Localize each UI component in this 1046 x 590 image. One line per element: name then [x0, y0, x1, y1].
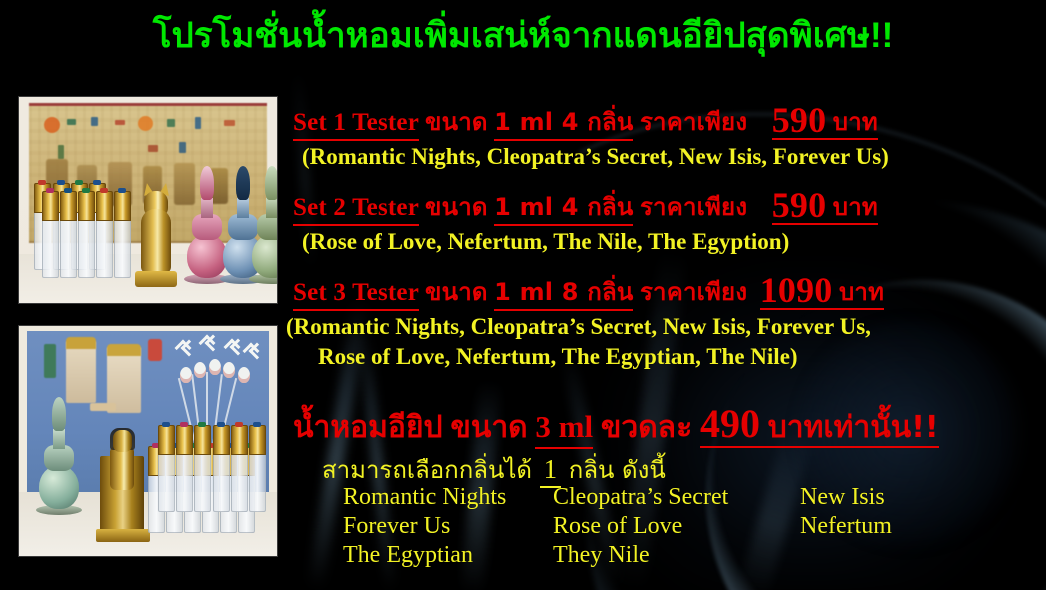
gold-cat-statue [133, 179, 179, 287]
offer-price: 490 [700, 401, 760, 446]
green-ornate-bottle [34, 395, 84, 515]
set-2-price: 590 [772, 185, 827, 225]
set-3-price-label: ราคาเพียง [640, 278, 747, 306]
set-2-scents: (Rose of Love, Nefertum, The Nile, The E… [302, 229, 789, 255]
set-2-title: Set 2 Tester [293, 194, 419, 226]
headline: โปรโมชั่นน้ำหอมเพิ่มเสน่ห์จากแดนอียิปสุด… [0, 8, 1046, 63]
dove-icon [177, 342, 193, 352]
scent-row: The Egyptian They Nile [343, 542, 1033, 571]
scent-row: Romantic Nights Cleopatra’s Secret New I… [343, 484, 1033, 513]
offer-size-value: 3 ml [535, 409, 593, 449]
set-2-size-label: ขนาด [425, 193, 488, 221]
choose-suffix: กลิ่น ดังนี้ [569, 456, 666, 484]
set-2-price-label: ราคาเพียง [640, 193, 747, 221]
scent-item: Nefertum [800, 513, 1000, 540]
scent-item: They Nile [553, 542, 800, 569]
set-1-price-label: ราคาเพียง [640, 108, 747, 136]
choose-prefix: สามารถเลือกกลิ่นได้ [322, 456, 532, 484]
scent-row: Forever Us Rose of Love Nefertum [343, 513, 1033, 542]
product-photo-bottles-and-cat [18, 96, 278, 304]
set-2-line: Set 2 Tester ขนาด 1 ml 4 กลิ่น ราคาเพียง… [293, 184, 878, 226]
gold-pharaoh-statue [94, 410, 152, 542]
set-1-title: Set 1 Tester [293, 109, 419, 141]
set-1-scents: (Romantic Nights, Cleopatra’s Secret, Ne… [302, 144, 889, 170]
set-3-line: Set 3 Tester ขนาด 1 ml 8 กลิ่น ราคาเพียง… [293, 269, 884, 311]
set-1-price: 590 [772, 100, 827, 140]
dove-icon [201, 337, 217, 347]
scent-item: New Isis [800, 484, 1000, 511]
set-3-scents-line-1: (Romantic Nights, Cleopatra’s Secret, Ne… [286, 314, 871, 340]
set-2-currency: บาท [833, 193, 878, 221]
offer-per-bottle-label: ขวดละ [601, 410, 692, 445]
set-3-price: 1090 [760, 270, 833, 310]
scent-item: Romantic Nights [343, 484, 553, 511]
set-2-size-value: 1 ml 4 กลิ่น [494, 193, 633, 226]
offer-size-label: ขนาด [450, 410, 527, 445]
scent-item: The Egyptian [343, 542, 553, 569]
set-1-currency: บาท [833, 108, 878, 136]
promotion-banner: โปรโมชั่นน้ำหอมเพิ่มเสน่ห์จากแดนอียิปสุด… [0, 0, 1046, 590]
set-3-title: Set 3 Tester [293, 279, 419, 311]
set-1-line: Set 1 Tester ขนาด 1 ml 4 กลิ่น ราคาเพียง… [293, 99, 878, 141]
set-3-currency: บาท [839, 278, 884, 306]
scent-item: Forever Us [343, 513, 553, 540]
offer-line: น้ำหอมอียิป ขนาด 3 ml ขวดละ 490 บาทเท่าน… [293, 400, 939, 451]
product-photo-vials-and-pharaoh [18, 325, 278, 557]
set-3-size-value: 1 ml 8 กลิ่น [494, 278, 633, 311]
dove-icon [226, 341, 242, 351]
green-perfume-bottle [246, 158, 278, 284]
set-3-size-label: ขนาด [425, 278, 488, 306]
scent-list: Romantic Nights Cleopatra’s Secret New I… [343, 484, 1033, 571]
scent-item: Rose of Love [553, 513, 800, 540]
scent-item: Cleopatra’s Secret [553, 484, 800, 511]
offer-product: น้ำหอมอียิป [293, 410, 443, 445]
dove-icon [245, 345, 261, 355]
set-1-size-value: 1 ml 4 กลิ่น [494, 108, 633, 141]
offer-currency-suffix: บาทเท่านั้น!! [768, 410, 939, 445]
set-3-scents-line-2: Rose of Love, Nefertum, The Egyptian, Th… [318, 344, 798, 370]
set-1-size-label: ขนาด [425, 108, 488, 136]
choose-count: 1 [540, 454, 562, 488]
